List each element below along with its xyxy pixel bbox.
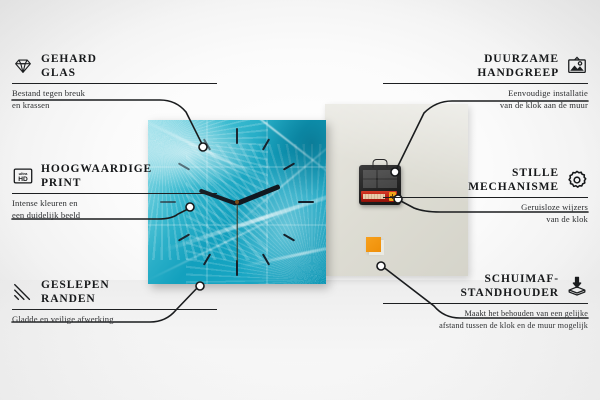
callout-title: HOOGWAARDIGEPRINT [41, 162, 152, 190]
battery-label [363, 194, 385, 199]
gear-icon [566, 169, 588, 191]
callout-rule [12, 193, 217, 194]
callout-title: SCHUIMAF-STANDHOUDER [383, 272, 559, 300]
callout-rule [383, 83, 588, 84]
foam-spacer [366, 237, 381, 252]
callout-header: ultra HD HOOGWAARDIGEPRINT [12, 162, 217, 190]
callout-rule [383, 303, 588, 304]
callout-header: STILLEMECHANISME [383, 166, 588, 194]
svg-text:HD: HD [18, 176, 28, 183]
callout-geslepen-randen[interactable]: GESLEPENRANDEN Gladde en veilige afwerki… [12, 278, 217, 326]
callout-subtitle: Gladde en veilige afwerking [12, 314, 217, 326]
beveled-edges-icon [12, 281, 34, 303]
callout-header: DUURZAMEHANDGREEP [383, 52, 588, 80]
callout-subtitle: Geruisloze wijzersvan de klok [383, 202, 588, 225]
callout-title: GESLEPENRANDEN [41, 278, 110, 306]
foam-spacer-icon [566, 275, 588, 297]
ultra-hd-icon: ultra HD [12, 165, 34, 187]
diamond-icon [12, 55, 34, 77]
callout-stille-mechanisme[interactable]: STILLEMECHANISME Geruisloze wijzersvan d… [383, 166, 588, 225]
callout-gehard-glas[interactable]: GEHARDGLAS Bestand tegen breuken krassen [12, 52, 217, 111]
callout-rule [383, 197, 588, 198]
callout-title: DUURZAMEHANDGREEP [383, 52, 559, 80]
callout-header: GEHARDGLAS [12, 52, 217, 80]
callout-subtitle: Bestand tegen breuken krassen [12, 88, 217, 111]
callout-duurzame-handgreep[interactable]: DUURZAMEHANDGREEP Eenvoudige installatie… [383, 52, 588, 111]
callout-schuimafstandhouder[interactable]: SCHUIMAF-STANDHOUDER Maakt het behouden … [383, 272, 588, 331]
callout-subtitle: Maakt het behouden van een gelijkeafstan… [383, 308, 588, 331]
callout-hoogwaardige-print[interactable]: ultra HD HOOGWAARDIGEPRINT Intense kleur… [12, 162, 217, 221]
callout-subtitle: Eenvoudige installatievan de klok aan de… [383, 88, 588, 111]
callout-rule [12, 309, 217, 310]
picture-frame-icon [566, 55, 588, 77]
callout-header: SCHUIMAF-STANDHOUDER [383, 272, 588, 300]
callout-header: GESLEPENRANDEN [12, 278, 217, 306]
callout-subtitle: Intense kleuren eneen duidelijk beeld [12, 198, 217, 221]
callout-rule [12, 83, 217, 84]
infographic-stage: GEHARDGLAS Bestand tegen breuken krassen… [0, 0, 600, 400]
callout-title: STILLEMECHANISME [383, 166, 559, 194]
callout-title: GEHARDGLAS [41, 52, 97, 80]
